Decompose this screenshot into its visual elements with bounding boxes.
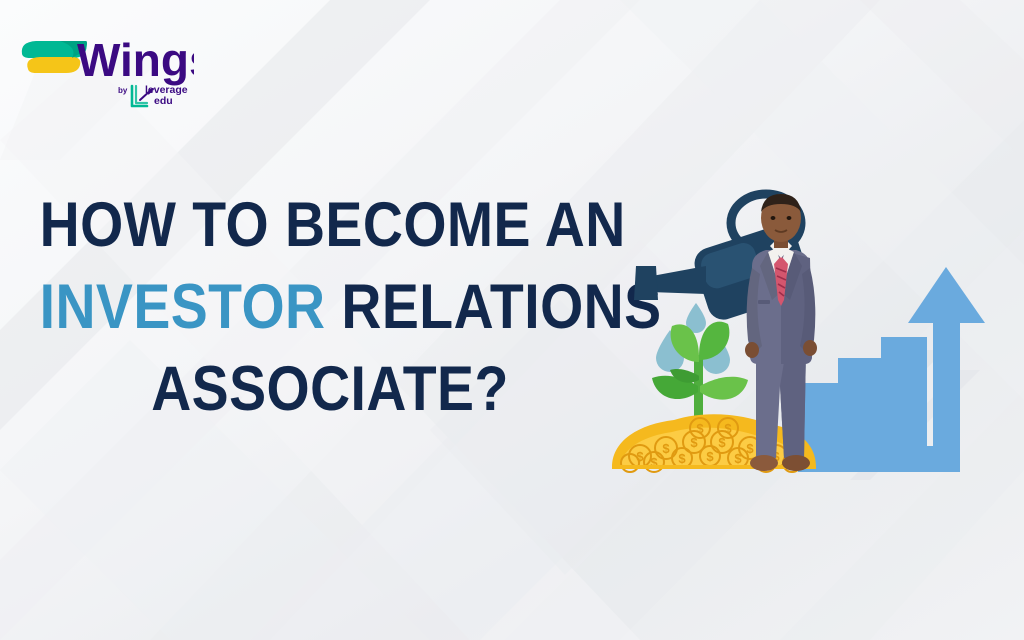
- svg-text:$: $: [662, 441, 670, 456]
- wings-logo-svg: Wings by leverage edu: [14, 14, 194, 110]
- svg-text:$: $: [636, 449, 644, 464]
- investment-growth-illustration: $$ $$ $$ $$ $$ $$ $: [600, 180, 1024, 500]
- wings-logo[interactable]: Wings by leverage edu: [14, 14, 194, 110]
- page-title: HOW TO BECOME AN INVESTOR RELATIONS ASSO…: [0, 196, 660, 420]
- headline-line-2-rest: [326, 272, 342, 342]
- svg-text:$: $: [678, 451, 686, 466]
- chart-axis: [798, 446, 950, 472]
- logo-subbrand-line2: edu: [154, 95, 173, 107]
- illustration-svg: $$ $$ $$ $$ $$ $$ $: [600, 180, 1024, 500]
- banner-canvas: Wings by leverage edu HOW TO BECOME AN I…: [0, 0, 1024, 640]
- svg-text:$: $: [718, 435, 726, 450]
- svg-text:$: $: [690, 435, 698, 450]
- headline-line-1: HOW TO BECOME AN: [40, 196, 621, 256]
- svg-text:$: $: [724, 421, 732, 436]
- svg-text:$: $: [696, 421, 704, 436]
- svg-text:$: $: [746, 441, 754, 456]
- svg-text:$: $: [734, 451, 742, 466]
- headline-accent-word: INVESTOR: [40, 272, 326, 342]
- bar-2: [838, 358, 884, 446]
- headline-line-2: INVESTOR RELATIONS: [40, 278, 621, 338]
- bar-3: [881, 337, 927, 446]
- headline-line-3: ASSOCIATE?: [40, 360, 621, 420]
- logo-by-label: by: [118, 86, 128, 95]
- svg-text:$: $: [706, 449, 714, 464]
- logo-wordmark: Wings: [77, 34, 194, 86]
